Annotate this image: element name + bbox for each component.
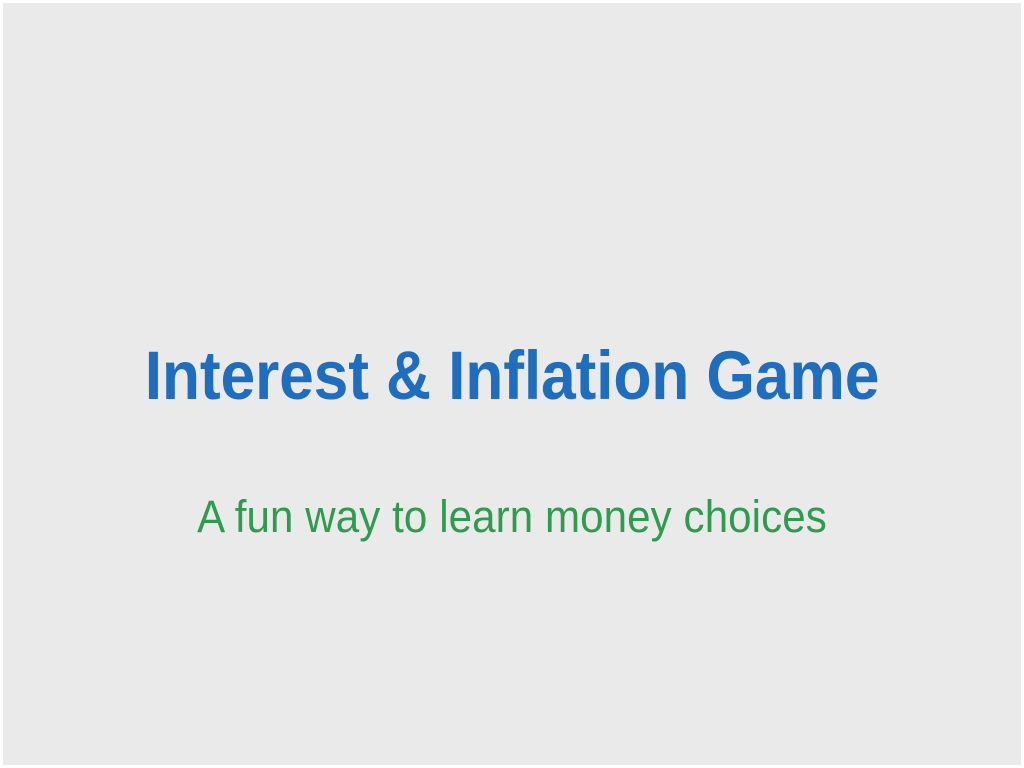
slide-text-block: Interest & Inflation Game A fun way to l… xyxy=(3,3,1021,765)
presentation-slide: Interest & Inflation Game A fun way to l… xyxy=(0,0,1024,768)
slide-subtitle: A fun way to learn money choices xyxy=(36,494,988,539)
slide-title: Interest & Inflation Game xyxy=(51,341,972,410)
